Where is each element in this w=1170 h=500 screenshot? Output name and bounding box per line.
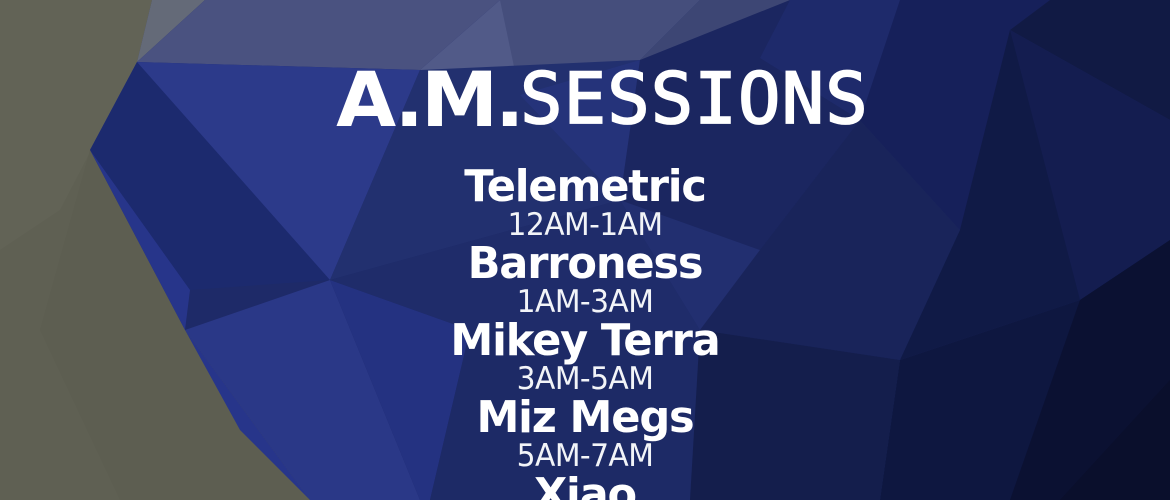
list-item: Mikey Terra 3AM-5AM [0,318,1170,395]
am-sessions-poster: A.M.SESSIONS Telemetric 12AM-1AM Barrone… [0,0,1170,500]
poster-content: A.M.SESSIONS Telemetric 12AM-1AM Barrone… [0,0,1170,500]
title-prefix: A.M. [337,62,522,138]
lineup-list: Telemetric 12AM-1AM Barroness 1AM-3AM Mi… [0,164,1170,500]
list-item: Xiao [0,472,1170,500]
list-item: Telemetric 12AM-1AM [0,164,1170,241]
dj-set-time: 3AM-5AM [23,364,1146,395]
dj-name: Mikey Terra [12,318,1159,364]
list-item: Miz Megs 5AM-7AM [0,395,1170,472]
page-title: A.M.SESSIONS [0,62,1170,138]
dj-name: Xiao [12,472,1159,500]
dj-name: Barroness [12,241,1159,287]
dj-name: Miz Megs [12,395,1159,441]
dj-set-time: 12AM-1AM [23,210,1146,241]
dj-set-time: 1AM-3AM [23,287,1146,318]
dj-name: Telemetric [12,164,1159,210]
title-suffix: SESSIONS [520,63,869,134]
list-item: Barroness 1AM-3AM [0,241,1170,318]
dj-set-time: 5AM-7AM [23,441,1146,472]
